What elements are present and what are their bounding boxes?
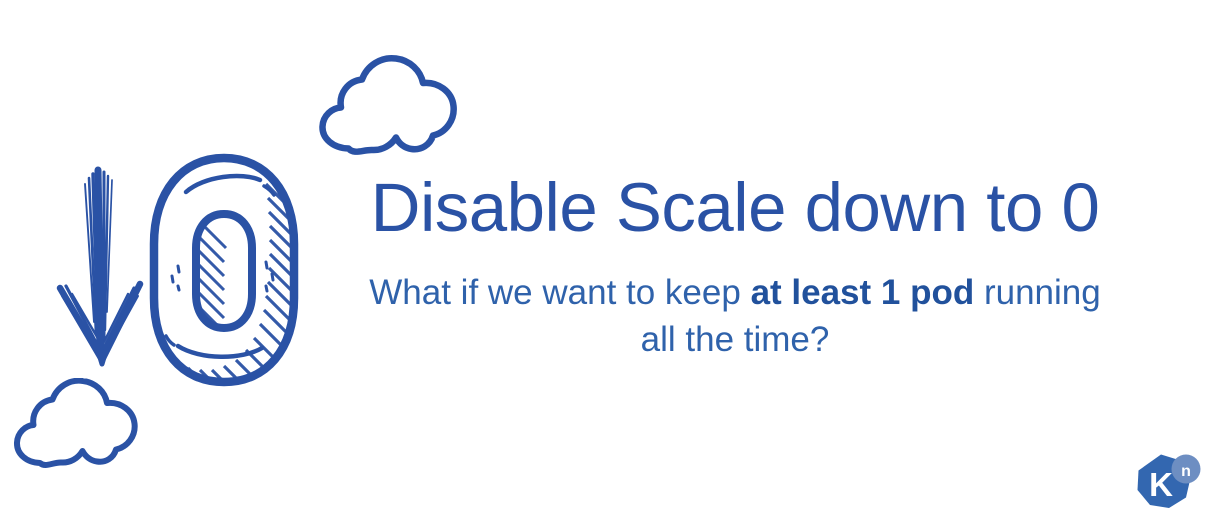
cloud-icon: [8, 378, 140, 470]
zero-digit-sketch-icon: [138, 148, 310, 392]
down-arrow-sketch-icon: [52, 162, 152, 374]
subtitle-lead: What if we want to keep: [369, 273, 750, 312]
subtitle-line-2: all the time?: [641, 320, 830, 359]
cloud-icon: [312, 52, 464, 156]
page-title: Disable Scale down to 0: [350, 172, 1120, 244]
svg-text:K: K: [1149, 466, 1173, 503]
text-block: Disable Scale down to 0 What if we want …: [350, 172, 1120, 364]
subtitle-emphasis: at least 1 pod: [751, 273, 975, 312]
slide-canvas: Disable Scale down to 0 What if we want …: [0, 0, 1212, 525]
subtitle: What if we want to keep at least 1 pod r…: [350, 270, 1120, 364]
subtitle-tail: running: [974, 273, 1100, 312]
svg-text:n: n: [1181, 463, 1191, 480]
knative-logo: K n: [1130, 450, 1204, 518]
